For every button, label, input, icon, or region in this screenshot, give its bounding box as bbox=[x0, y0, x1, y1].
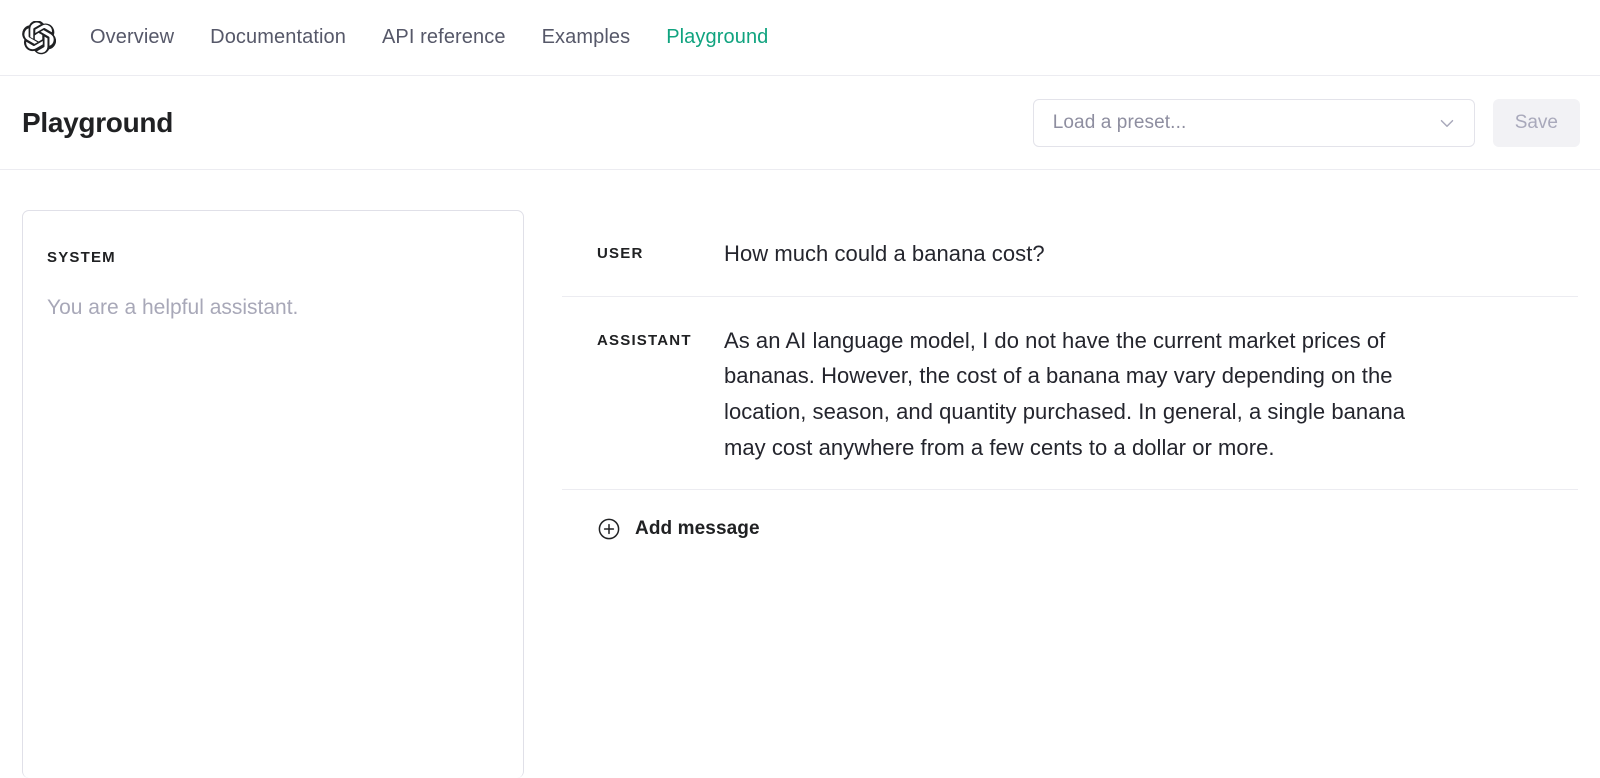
nav-link-playground[interactable]: Playground bbox=[666, 26, 768, 49]
page-header: Playground Load a preset... Save bbox=[0, 76, 1600, 170]
add-message-button[interactable]: Add message bbox=[562, 490, 760, 541]
nav-link-api-reference[interactable]: API reference bbox=[382, 26, 506, 49]
system-prompt-panel: SYSTEM bbox=[22, 210, 524, 778]
message-row-user[interactable]: USER How much could a banana cost? bbox=[562, 210, 1578, 297]
header-actions: Load a preset... Save bbox=[1033, 99, 1580, 147]
nav-links: Overview Documentation API reference Exa… bbox=[90, 26, 768, 49]
save-button[interactable]: Save bbox=[1493, 99, 1580, 147]
system-prompt-input[interactable] bbox=[47, 292, 499, 692]
system-label: SYSTEM bbox=[47, 249, 499, 266]
nav-link-overview[interactable]: Overview bbox=[90, 26, 174, 49]
chevron-down-icon bbox=[1436, 112, 1458, 134]
preset-select[interactable]: Load a preset... bbox=[1033, 99, 1475, 147]
nav-link-documentation[interactable]: Documentation bbox=[210, 26, 346, 49]
message-role-label: ASSISTANT bbox=[562, 323, 724, 349]
chat-messages-column: USER How much could a banana cost? ASSIS… bbox=[560, 210, 1578, 778]
playground-workspace: SYSTEM USER How much could a banana cost… bbox=[0, 170, 1600, 778]
message-role-label: USER bbox=[562, 236, 724, 262]
plus-circle-icon bbox=[597, 517, 621, 541]
message-row-assistant[interactable]: ASSISTANT As an AI language model, I do … bbox=[562, 297, 1578, 491]
message-text[interactable]: As an AI language model, I do not have t… bbox=[724, 323, 1436, 466]
add-message-label: Add message bbox=[635, 518, 760, 540]
nav-link-examples[interactable]: Examples bbox=[542, 26, 631, 49]
preset-select-value: Load a preset... bbox=[1053, 112, 1436, 134]
page-title: Playground bbox=[22, 107, 173, 139]
message-text[interactable]: How much could a banana cost? bbox=[724, 236, 1436, 272]
openai-logo-icon[interactable] bbox=[22, 21, 56, 55]
top-navigation-bar: Overview Documentation API reference Exa… bbox=[0, 0, 1600, 76]
